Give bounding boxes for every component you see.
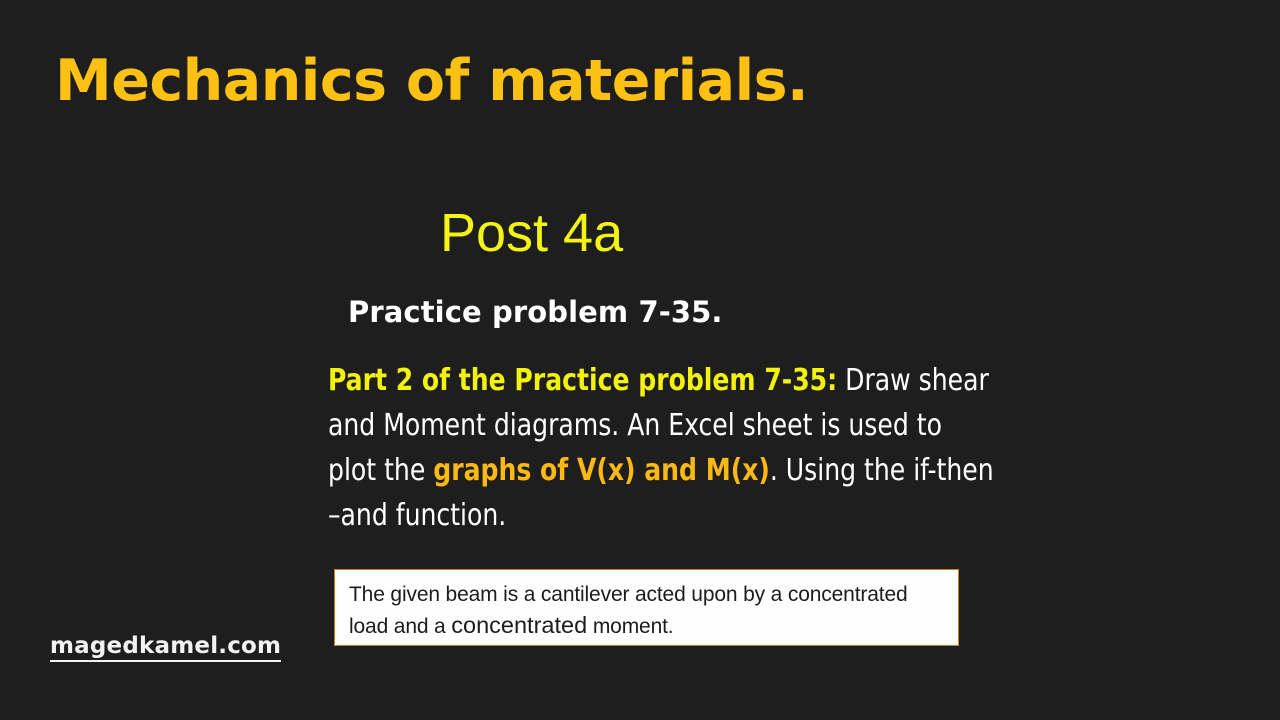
body-paragraph: Part 2 of the Practice problem 7-35: Dra… bbox=[328, 358, 998, 538]
page-title: Mechanics of materials. bbox=[55, 52, 808, 112]
callout-line-2-after: moment. bbox=[587, 615, 673, 638]
callout-line-2-emphasis: concentrated bbox=[451, 612, 587, 638]
practice-problem-heading: Practice problem 7-35. bbox=[348, 296, 723, 329]
callout-box: The given beam is a cantilever acted upo… bbox=[334, 569, 959, 646]
callout-text: The given beam is a cantilever acted upo… bbox=[349, 579, 949, 642]
callout-line-1: The given beam is a cantilever acted upo… bbox=[349, 583, 782, 606]
body-highlight-graphs: graphs of V(x) and M(x) bbox=[433, 453, 770, 488]
site-watermark-label: magedkamel.com bbox=[50, 633, 281, 659]
site-watermark[interactable]: magedkamel.com bbox=[50, 633, 281, 662]
slide-canvas: Mechanics of materials. Post 4a Practice… bbox=[0, 0, 1280, 720]
post-label: Post 4a bbox=[440, 204, 623, 263]
body-highlight-part: Part 2 of the Practice problem 7-35: bbox=[328, 363, 837, 398]
watermark-underline bbox=[50, 660, 281, 662]
